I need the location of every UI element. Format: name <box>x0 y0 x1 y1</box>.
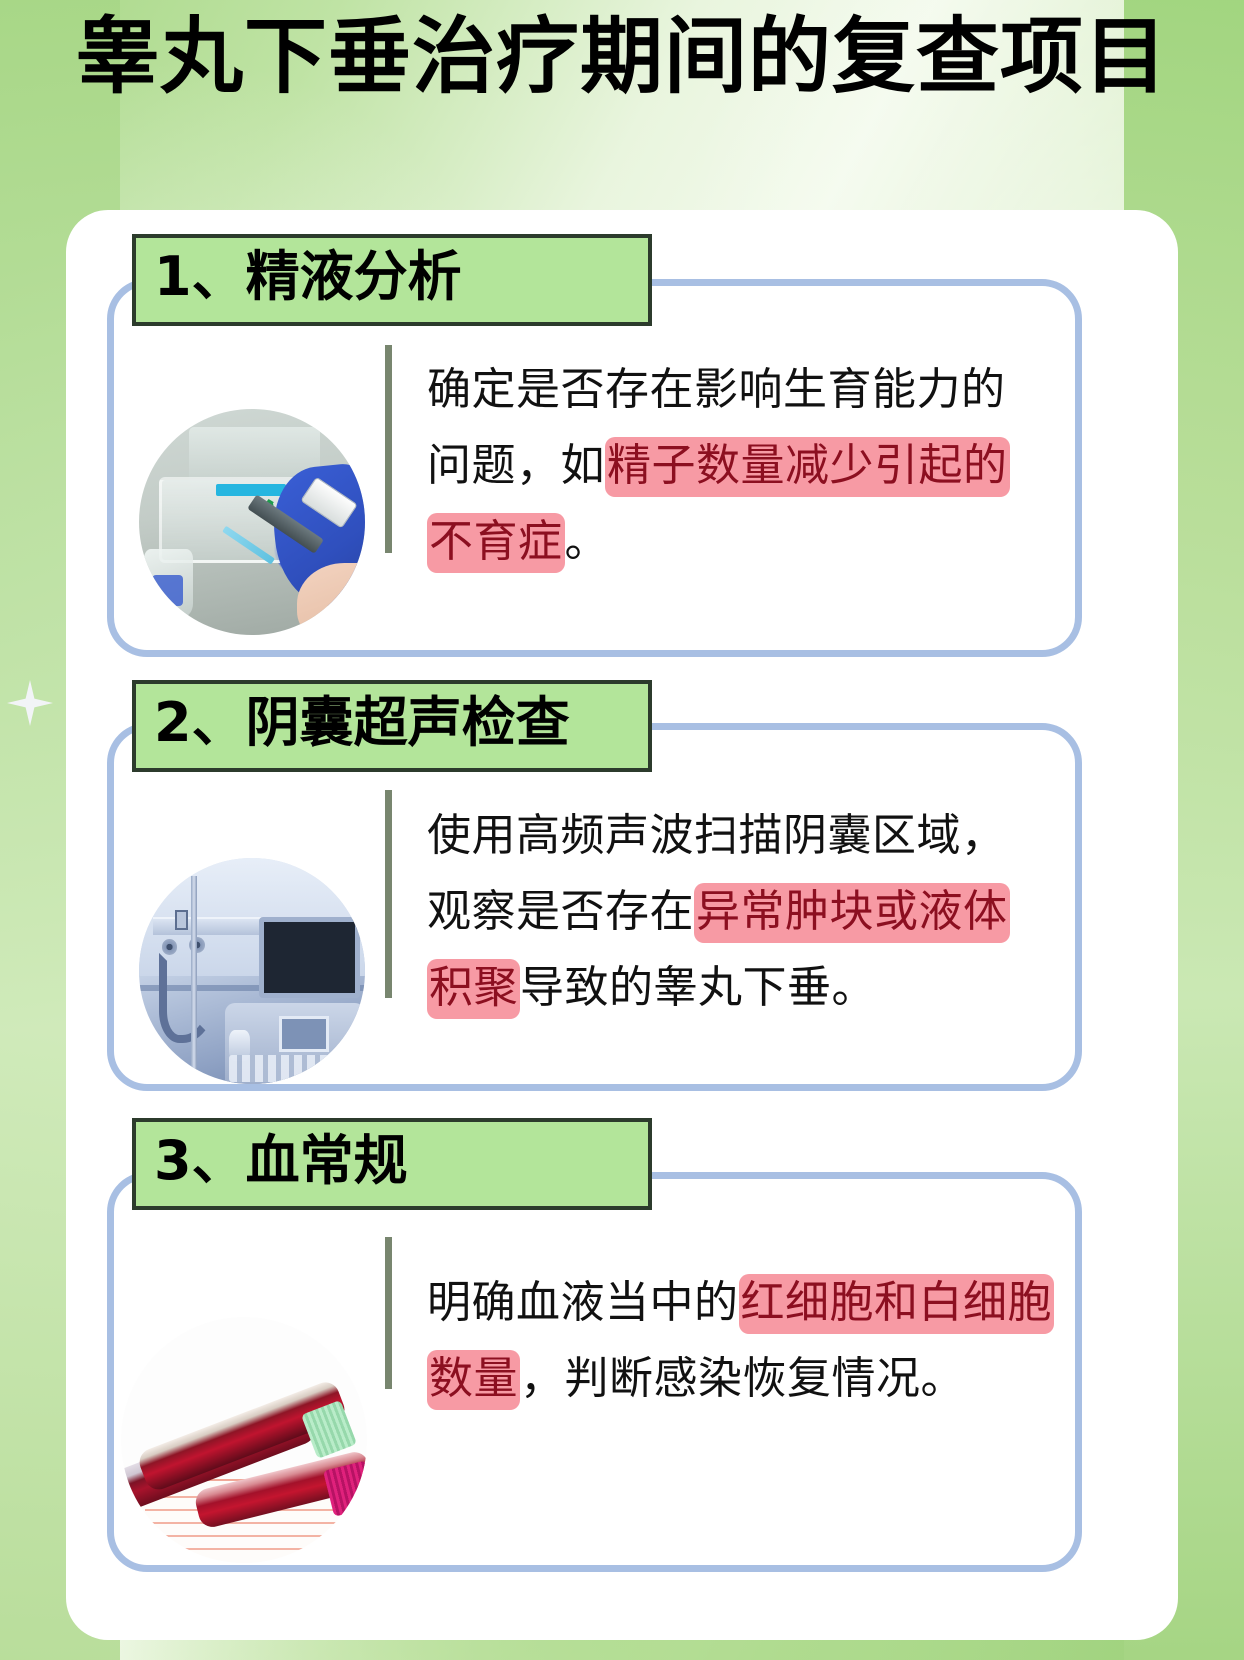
section-heading-3: 3、血常规 <box>132 1118 652 1210</box>
section-vertical-rule <box>385 790 392 998</box>
section-heading-1: 1、精液分析 <box>132 234 652 326</box>
section-heading-2: 2、阴囊超声检查 <box>132 680 652 772</box>
sparkle-icon <box>7 680 53 726</box>
section-body-text-2: 使用高频声波扫描阴囊区域，观察是否存在异常肿块或液体积聚导致的睾丸下垂。 <box>427 798 1047 1026</box>
section-vertical-rule <box>385 345 392 553</box>
section-body-text-3: 明确血液当中的红细胞和白细胞数量，判断感染恢复情况。 <box>427 1265 1057 1417</box>
text-plain: 导致的睾丸下垂。 <box>520 962 876 1013</box>
blood-tubes-photo <box>121 1317 367 1563</box>
section-body-text-1: 确定是否存在影响生育能力的问题，如精子数量减少引起的不育症。 <box>427 352 1047 580</box>
text-plain: ，判断感染恢复情况。 <box>520 1353 965 1404</box>
page-title: 睾丸下垂治疗期间的复查项目 <box>0 4 1244 110</box>
lab-pipette-photo <box>139 409 365 635</box>
section-vertical-rule <box>385 1237 392 1389</box>
ultrasound-machine-photo <box>139 858 365 1084</box>
text-plain: 。 <box>565 516 610 567</box>
text-plain: 明确血液当中的 <box>427 1277 739 1328</box>
